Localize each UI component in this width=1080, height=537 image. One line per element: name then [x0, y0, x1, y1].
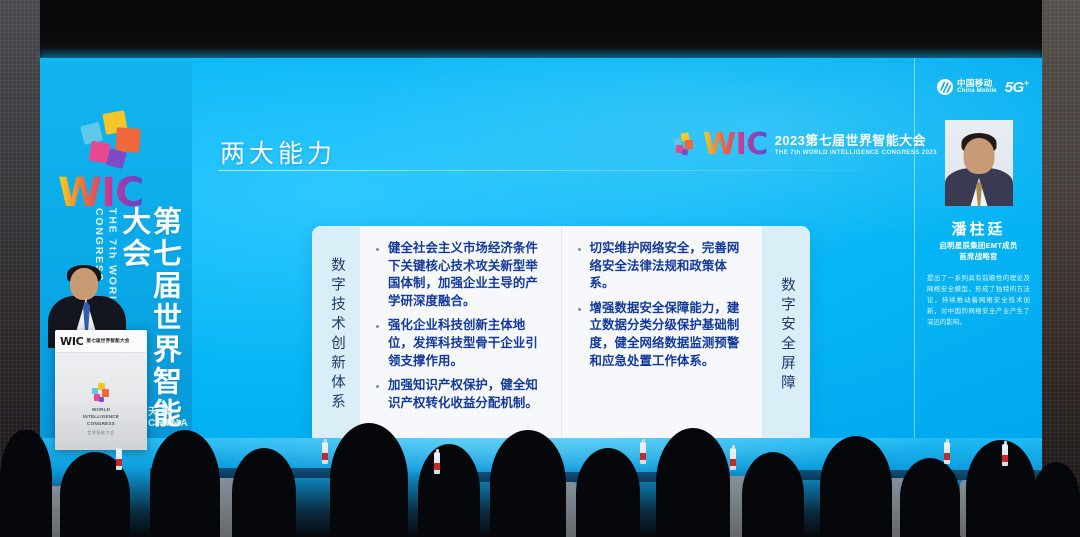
wic-brain-logo-large-icon	[78, 110, 152, 172]
left-vertical-label: 数字技术创新体系	[328, 257, 344, 413]
audience-person	[742, 452, 804, 537]
audience-person	[150, 430, 220, 537]
china-mobile-logo: 中国移动 China Mobile 5G+	[937, 78, 1028, 96]
audience-person	[820, 436, 892, 537]
sponsor-english-name: China Mobile	[957, 88, 997, 94]
audience-person	[656, 428, 730, 537]
wic-brain-icon	[672, 132, 696, 158]
right-vertical-label-tab: 数字安全屏障	[762, 226, 810, 438]
conference-hall: 两大能力 WIC 2023第七届世界智能大会 THE 7th WORLD INT…	[0, 0, 1080, 537]
portrait-face	[964, 138, 995, 174]
list-item: 强化企业科技创新主体地位，发挥科技型骨干企业引领支撑作用。	[373, 317, 548, 370]
audience-person	[330, 423, 408, 537]
podium-logo-cn: 世界智能大会	[83, 430, 119, 436]
list-item: 增强数据安全保障能力，建立数据分类分级保护基础制度，健全网络数据监测预警和应急处…	[575, 300, 750, 370]
audience-person	[1032, 462, 1080, 537]
led-presentation-screen: 两大能力 WIC 2023第七届世界智能大会 THE 7th WORLD INT…	[40, 58, 1042, 438]
list-item: 切实维护网络安全，完善网络安全法律法规和政策体系。	[575, 240, 750, 293]
water-bottle	[434, 452, 440, 474]
audience-person	[418, 444, 480, 537]
list-item: 加强知识产权保护，健全知识产权转化收益分配机制。	[373, 377, 548, 412]
speaker-bio: 提出了一系列具有前瞻性的理论及网络安全模型，形成了独特的方法论，持续推动着网络安…	[927, 273, 1030, 328]
two-capabilities-card: 数字技术创新体系 健全社会主义市场经济条件下关键核心技术攻关新型举国体制，加强企…	[312, 226, 810, 438]
audience-person	[966, 440, 1036, 537]
audience-person	[576, 448, 640, 537]
presenter-head	[70, 268, 98, 300]
water-bottle	[322, 442, 328, 464]
five-g-plus: +	[1024, 78, 1029, 88]
speaker-role-line-1: 启明星辰集团EMT成员	[921, 240, 1036, 251]
speaker-role-line-2: 首席战略官	[921, 251, 1036, 262]
speaker-portrait-photo	[945, 120, 1013, 206]
podium-chinese-text: 第七届世界智能大会	[86, 338, 129, 344]
podium-wic-wordmark: WIC	[60, 335, 83, 348]
left-vertical-label-tab: 数字技术创新体系	[312, 226, 360, 438]
water-bottle	[640, 442, 646, 464]
banner-location: 天津 CHINA	[148, 403, 192, 429]
audience-person	[232, 448, 296, 537]
audience-person	[900, 458, 960, 537]
right-vertical-label: 数字安全屏障	[778, 277, 794, 394]
speaker-sidebar: 中国移动 China Mobile 5G+ 潘柱廷 启明星辰集团EMT成员 首席…	[915, 58, 1042, 438]
china-mobile-icon	[937, 79, 953, 95]
water-bottle	[730, 448, 736, 470]
podium-logo-en-2: INTELLIGENCE	[83, 414, 119, 421]
china-mobile-text: 中国移动 China Mobile	[957, 79, 997, 94]
speaker-podium: WIC 第七届世界智能大会 WORLD INTELLIGENCE CONGRES…	[55, 330, 147, 450]
speaker-role: 启明星辰集团EMT成员 首席战略官	[921, 240, 1036, 263]
right-wall-panel	[1042, 0, 1080, 537]
left-bullet-list: 健全社会主义市场经济条件下关键核心技术攻关新型举国体制，加强企业主导的产学研深度…	[373, 240, 548, 412]
list-item: 健全社会主义市场经济条件下关键核心技术攻关新型举国体制，加强企业主导的产学研深度…	[373, 240, 548, 310]
podium-logo-en-1: WORLD	[83, 407, 119, 414]
title-divider-rule	[218, 170, 918, 171]
right-bullet-column: 切实维护网络安全，完善网络安全法律法规和政策体系。 增强数据安全保障能力，建立数…	[562, 226, 763, 438]
audience-person	[490, 430, 566, 537]
header-english-title: THE 7th WORLD INTELLIGENCE CONGRESS 2023	[775, 149, 937, 156]
left-bullet-column: 健全社会主义市场经济条件下关键核心技术攻关新型举国体制，加强企业主导的产学研深度…	[360, 226, 561, 438]
podium-logo-en-3: CONGRESS	[83, 421, 119, 428]
audience-person	[0, 430, 52, 537]
five-g-text: 5G	[1005, 79, 1024, 96]
header-titles: 2023第七届世界智能大会 THE 7th WORLD INTELLIGENCE…	[775, 134, 937, 156]
water-bottle	[944, 442, 950, 464]
speaker-name: 潘柱廷	[915, 218, 1042, 239]
podium-brain-icon	[91, 382, 111, 404]
header-chinese-title: 2023第七届世界智能大会	[775, 134, 937, 149]
water-bottle	[1002, 444, 1008, 466]
podium-congress-logo: WORLD INTELLIGENCE CONGRESS 世界智能大会	[83, 382, 119, 436]
water-bottle	[116, 448, 122, 470]
right-bullet-list: 切实维护网络安全，完善网络安全法律法规和政策体系。 增强数据安全保障能力，建立数…	[575, 240, 750, 370]
podium-sign: WIC 第七届世界智能大会	[55, 330, 147, 353]
wic-wordmark: WIC	[703, 130, 768, 160]
slide-title: 两大能力	[220, 134, 336, 170]
five-g-label: 5G+	[1005, 78, 1029, 96]
